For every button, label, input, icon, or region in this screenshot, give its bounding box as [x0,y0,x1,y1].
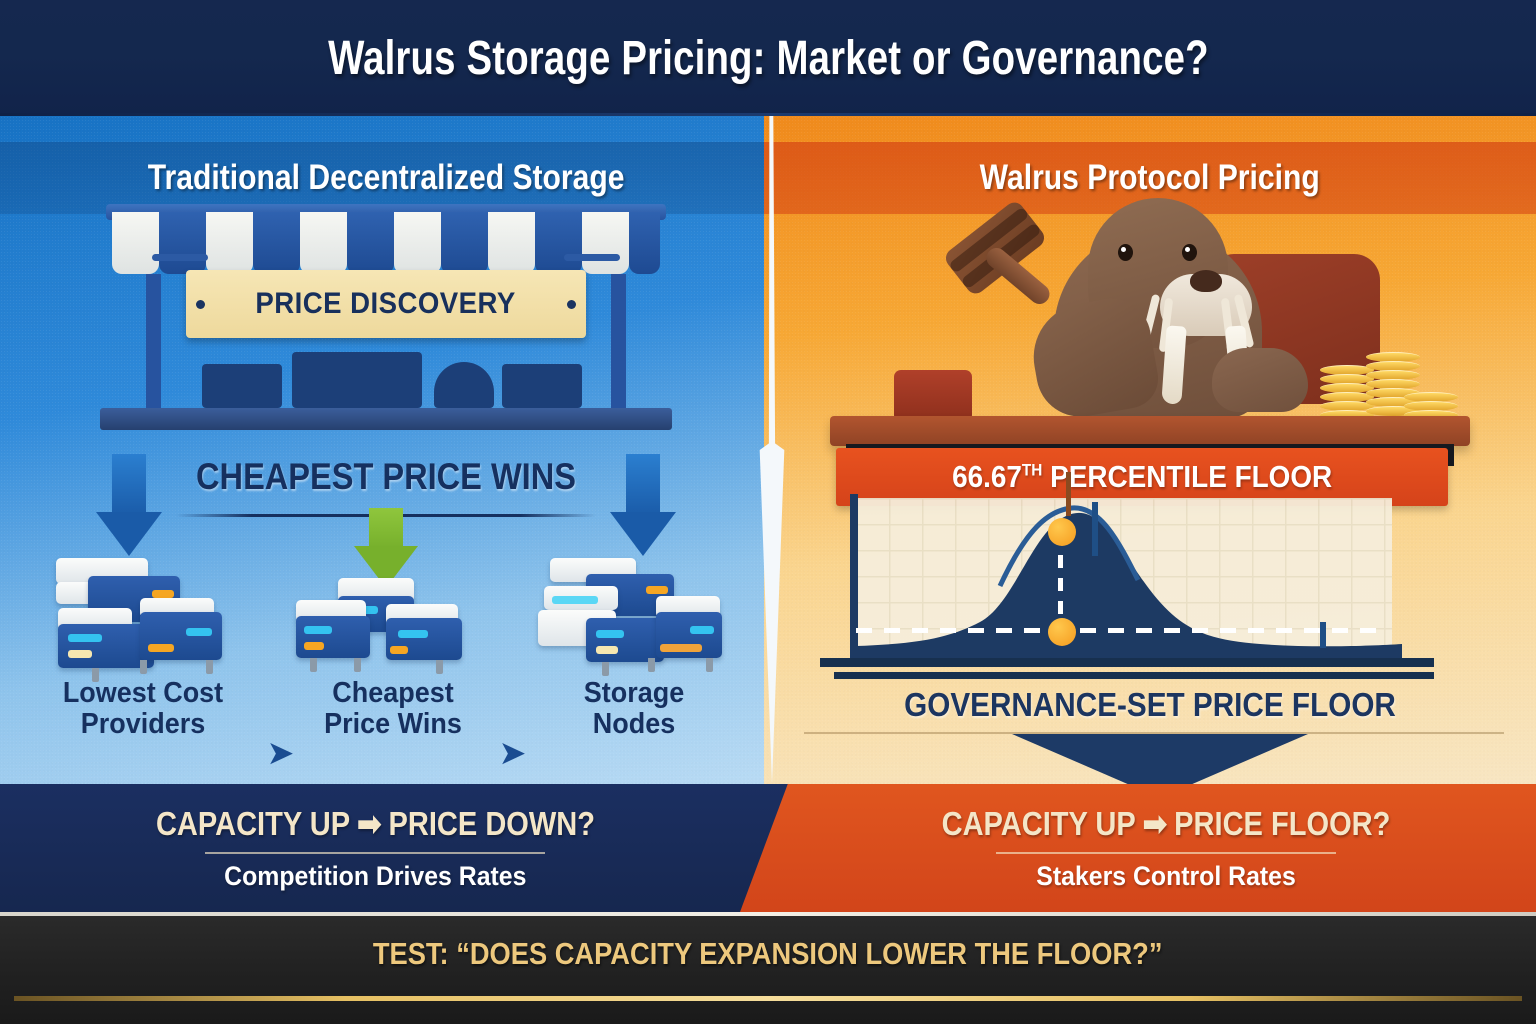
chart-pointer-icon [1066,472,1071,516]
flow-arrow-2-icon: ➤ [500,736,525,771]
price-distribution-chart [820,494,1452,684]
percentile-floor-label: 66.67TH PERCENTILE FLOOR [952,459,1332,495]
percentile-ordinal: TH [1022,461,1042,480]
right-arrow-icon: ➡ [1143,804,1167,843]
floor-marker-dot [1048,618,1076,646]
infographic-poster: Walrus Storage Pricing: Market or Govern… [0,0,1536,1024]
floor-dashed-line [856,628,1376,633]
footer-gold-rule [14,996,1522,1001]
server-cluster-storage-nodes [530,556,720,676]
summary-band-walrus: CAPACITY UP➡PRICE FLOOR? Stakers Control… [740,784,1536,912]
summary-rule-left [205,852,545,854]
headline-right-before: CAPACITY UP [942,805,1136,842]
footer-bar: TEST: “DOES CAPACITY EXPANSION LOWER THE… [0,912,1536,1024]
headline-left-before: CAPACITY UP [155,805,349,842]
summary-subtitle-right: Stakers Control Rates [1036,861,1296,892]
price-discovery-sign: PRICE DISCOVERY [186,270,586,338]
flow-arrow-1-icon: ➤ [268,736,293,771]
summary-headline-right: CAPACITY UP➡PRICE FLOOR? [942,804,1391,843]
summary-band-traditional: CAPACITY UP➡PRICE DOWN? Competition Driv… [0,784,790,912]
panel-traditional-storage: Traditional Decentralized Storage [0,116,772,784]
server-clusters [0,556,772,686]
stall-counter [100,408,672,430]
percentile-dashed-line [1058,532,1063,632]
percentile-suffix: PERCENTILE FLOOR [1050,459,1332,494]
comparison-panels: Traditional Decentralized Storage [0,116,1536,784]
chart-x-axis [820,658,1434,667]
walrus-judge-illustration [830,194,1470,484]
flow-labels: Lowest Cost Providers ➤ Cheapest Price W… [0,676,772,776]
summary-subtitle-left: Competition Drives Rates [224,861,526,892]
chart-base-line [834,672,1434,679]
headline-left-after: PRICE DOWN? [388,805,595,842]
cheapest-price-wins-row: CHEAPEST PRICE WINS [0,446,772,556]
peak-marker-dot [1048,518,1076,546]
price-discovery-label: PRICE DISCOVERY [256,287,516,321]
headline-right-after: PRICE FLOOR? [1174,805,1390,842]
page-title: Walrus Storage Pricing: Market or Govern… [328,31,1209,86]
governance-price-floor-label: GOVERNANCE-SET PRICE FLOOR [803,686,1498,724]
market-stall-illustration: PRICE DISCOVERY [112,212,660,432]
summary-rule-right [996,852,1336,854]
left-panel-header: Traditional Decentralized Storage [148,158,625,198]
panel-walrus-protocol: Walrus Protocol Pricing [764,116,1536,784]
right-arrow-icon: ➡ [357,804,381,843]
flow-label-nodes: Storage Nodes [541,678,727,741]
footer-test-question: TEST: “DOES CAPACITY EXPANSION LOWER THE… [373,936,1163,972]
poster-title-bar: Walrus Storage Pricing: Market or Govern… [0,0,1536,116]
sound-block-icon [894,370,972,422]
server-cluster-providers [44,556,234,676]
flow-label-cheapest: Cheapest Price Wins [307,678,480,741]
summary-headline-left: CAPACITY UP➡PRICE DOWN? [155,804,594,843]
walrus-icon [1040,198,1276,416]
server-cluster-cheapest [290,556,480,676]
percentile-value: 66.67 [952,459,1022,494]
flow-label-providers: Lowest Cost Providers [36,678,250,741]
summary-bands: CAPACITY UP➡PRICE DOWN? Competition Driv… [0,784,1536,912]
panel-divider-arrow-icon [750,116,794,784]
cheapest-price-wins-label: CHEAPEST PRICE WINS [46,456,725,498]
right-panel-header: Walrus Protocol Pricing [980,158,1320,198]
judge-bench-top [830,416,1470,446]
